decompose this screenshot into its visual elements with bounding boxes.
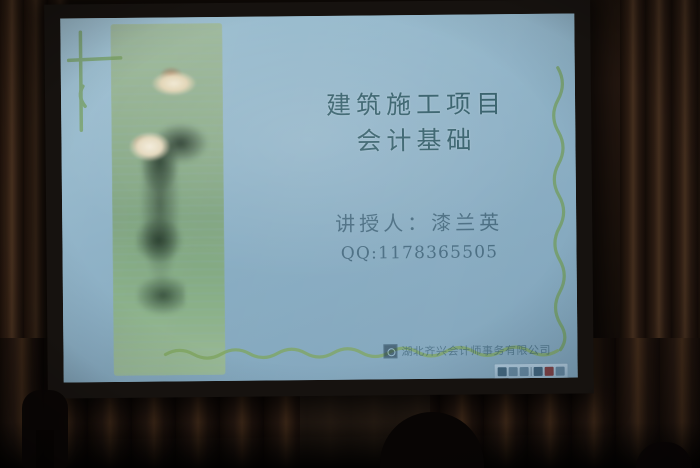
lotus-flower-left (117, 123, 179, 170)
presentation-slide: 建筑施工项目 会计基础 讲授人：漆兰英 QQ:1178365505 湖北齐兴会计… (60, 14, 577, 383)
footer-watermark: 湖北齐兴会计师事务有限公司 (383, 342, 551, 360)
lotus-flower-top (141, 61, 207, 102)
projection-screen-frame: 建筑施工项目 会计基础 讲授人：漆兰英 QQ:1178365505 湖北齐兴会计… (44, 0, 594, 399)
company-logo-icon (383, 344, 397, 358)
chinese-character-icon[interactable] (509, 367, 518, 376)
painting-stem (135, 143, 185, 373)
camera-tripod-silhouette (22, 390, 68, 468)
keyboard-icon[interactable] (534, 367, 543, 376)
projection-screen-surface: 建筑施工项目 会计基础 讲授人：漆兰英 QQ:1178365505 湖北齐兴会计… (60, 14, 577, 383)
ime-mode-icon[interactable] (498, 367, 507, 376)
contact-qq: QQ:1178365505 (274, 242, 564, 265)
punctuation-icon[interactable] (520, 367, 529, 376)
soft-keyboard-icon[interactable] (545, 367, 554, 376)
screenshot-root: 建筑施工项目 会计基础 讲授人：漆兰英 QQ:1178365505 湖北齐兴会计… (0, 0, 700, 468)
presenter-name: 讲授人：漆兰英 (274, 206, 564, 241)
slide-title-line-2: 会计基础 (271, 122, 561, 161)
slide-subtitle: 讲授人：漆兰英 QQ:1178365505 (274, 206, 565, 265)
windows-ime-language-bar[interactable] (494, 363, 569, 381)
slide-title: 建筑施工项目 会计基础 (271, 86, 562, 161)
floor-shadow (0, 422, 700, 468)
footer-company-name: 湖北齐兴会计师事务有限公司 (401, 342, 551, 359)
lotus-ink-painting (110, 23, 225, 376)
settings-icon[interactable] (556, 367, 565, 376)
slide-title-line-1: 建筑施工项目 (271, 86, 561, 125)
ime-separator (531, 367, 532, 376)
